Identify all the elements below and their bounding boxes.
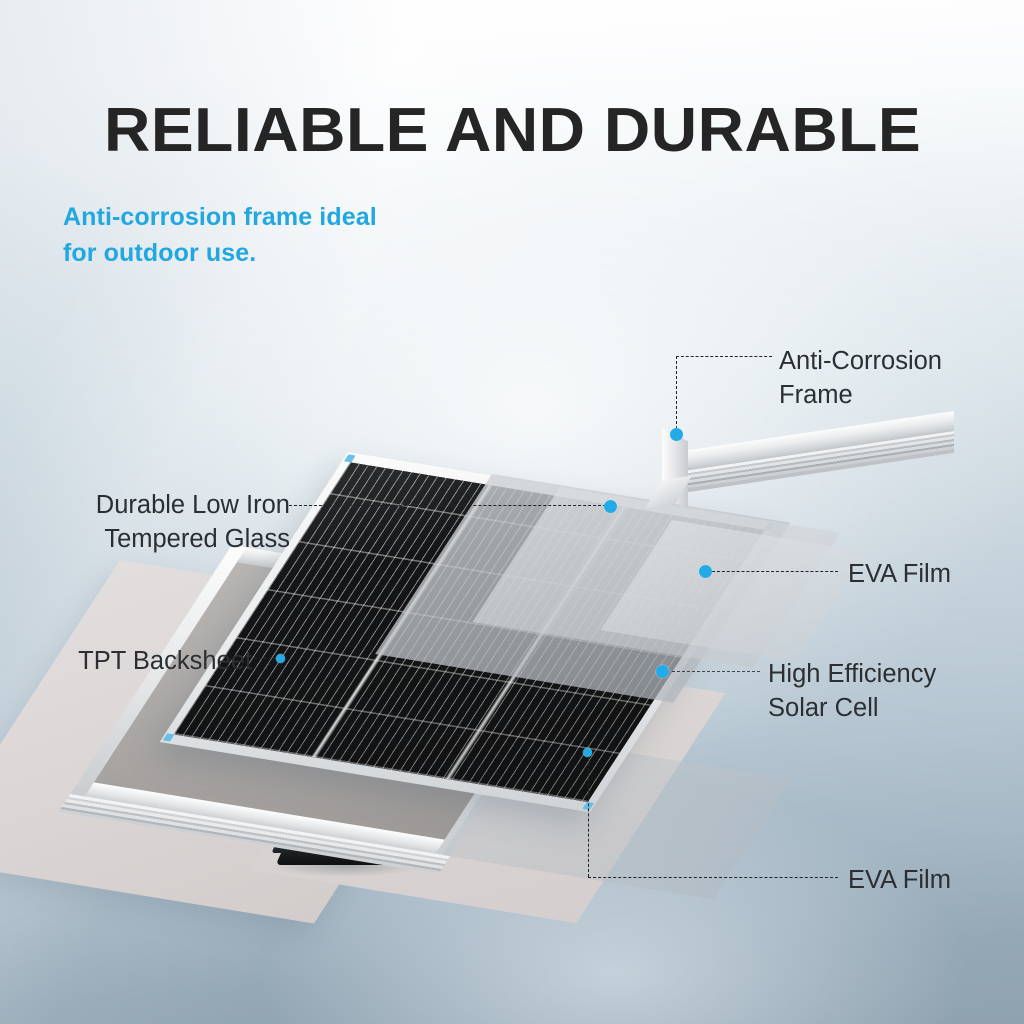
leader-line-anti-corrosion-frame-vertical xyxy=(676,356,677,434)
leader-line-eva-film-lower-vertical xyxy=(588,753,589,877)
leader-line-eva-film-lower-horizontal xyxy=(588,877,838,878)
page-subtitle: Anti-corrosion frame ideal for outdoor u… xyxy=(63,200,377,271)
subtitle-line-2: for outdoor use. xyxy=(63,236,377,272)
callout-label-tempered-glass: Durable Low Iron Tempered Glass xyxy=(0,489,290,556)
subtitle-line-1: Anti-corrosion frame ideal xyxy=(63,200,377,236)
page-title: RELIABLE AND DURABLE xyxy=(104,100,921,162)
leader-line-tpt-backsheet xyxy=(254,658,276,659)
callout-dot-eva-film-lower[interactable] xyxy=(583,748,592,757)
callout-label-tpt-backsheet: TPT Backsheet xyxy=(0,645,252,679)
callout-label-line-1: Durable Low Iron xyxy=(0,489,290,523)
callout-dot-anti-corrosion-frame[interactable] xyxy=(670,428,683,441)
callout-label-line-2: Tempered Glass xyxy=(0,523,290,557)
infographic-canvas: RELIABLE AND DURABLE Anti-corrosion fram… xyxy=(0,0,1024,1024)
callout-dot-eva-film-upper[interactable] xyxy=(699,565,712,578)
callout-label-anti-corrosion-frame: Anti-Corrosion Frame xyxy=(779,345,942,412)
leader-line-eva-film-upper xyxy=(712,571,838,572)
callout-label-solar-cell: High Efficiency Solar Cell xyxy=(768,658,936,725)
callout-dot-tempered-glass[interactable] xyxy=(604,500,617,513)
leader-line-tempered-glass xyxy=(289,505,611,506)
anti-corrosion-frame-piece xyxy=(662,428,962,528)
callout-label-line-1: Anti-Corrosion xyxy=(779,345,942,379)
leader-line-solar-cell xyxy=(672,671,760,672)
callout-label-eva-film-upper: EVA Film xyxy=(848,558,951,592)
callout-label-eva-film-lower: EVA Film xyxy=(848,864,951,898)
callout-dot-solar-cell[interactable] xyxy=(656,665,669,678)
callout-label-line-2: Solar Cell xyxy=(768,692,936,726)
callout-label-line-2: Frame xyxy=(779,379,942,413)
callout-label-line-1: High Efficiency xyxy=(768,658,936,692)
leader-line-anti-corrosion-frame-horizontal xyxy=(676,356,772,357)
callout-dot-tpt-backsheet[interactable] xyxy=(276,654,285,663)
